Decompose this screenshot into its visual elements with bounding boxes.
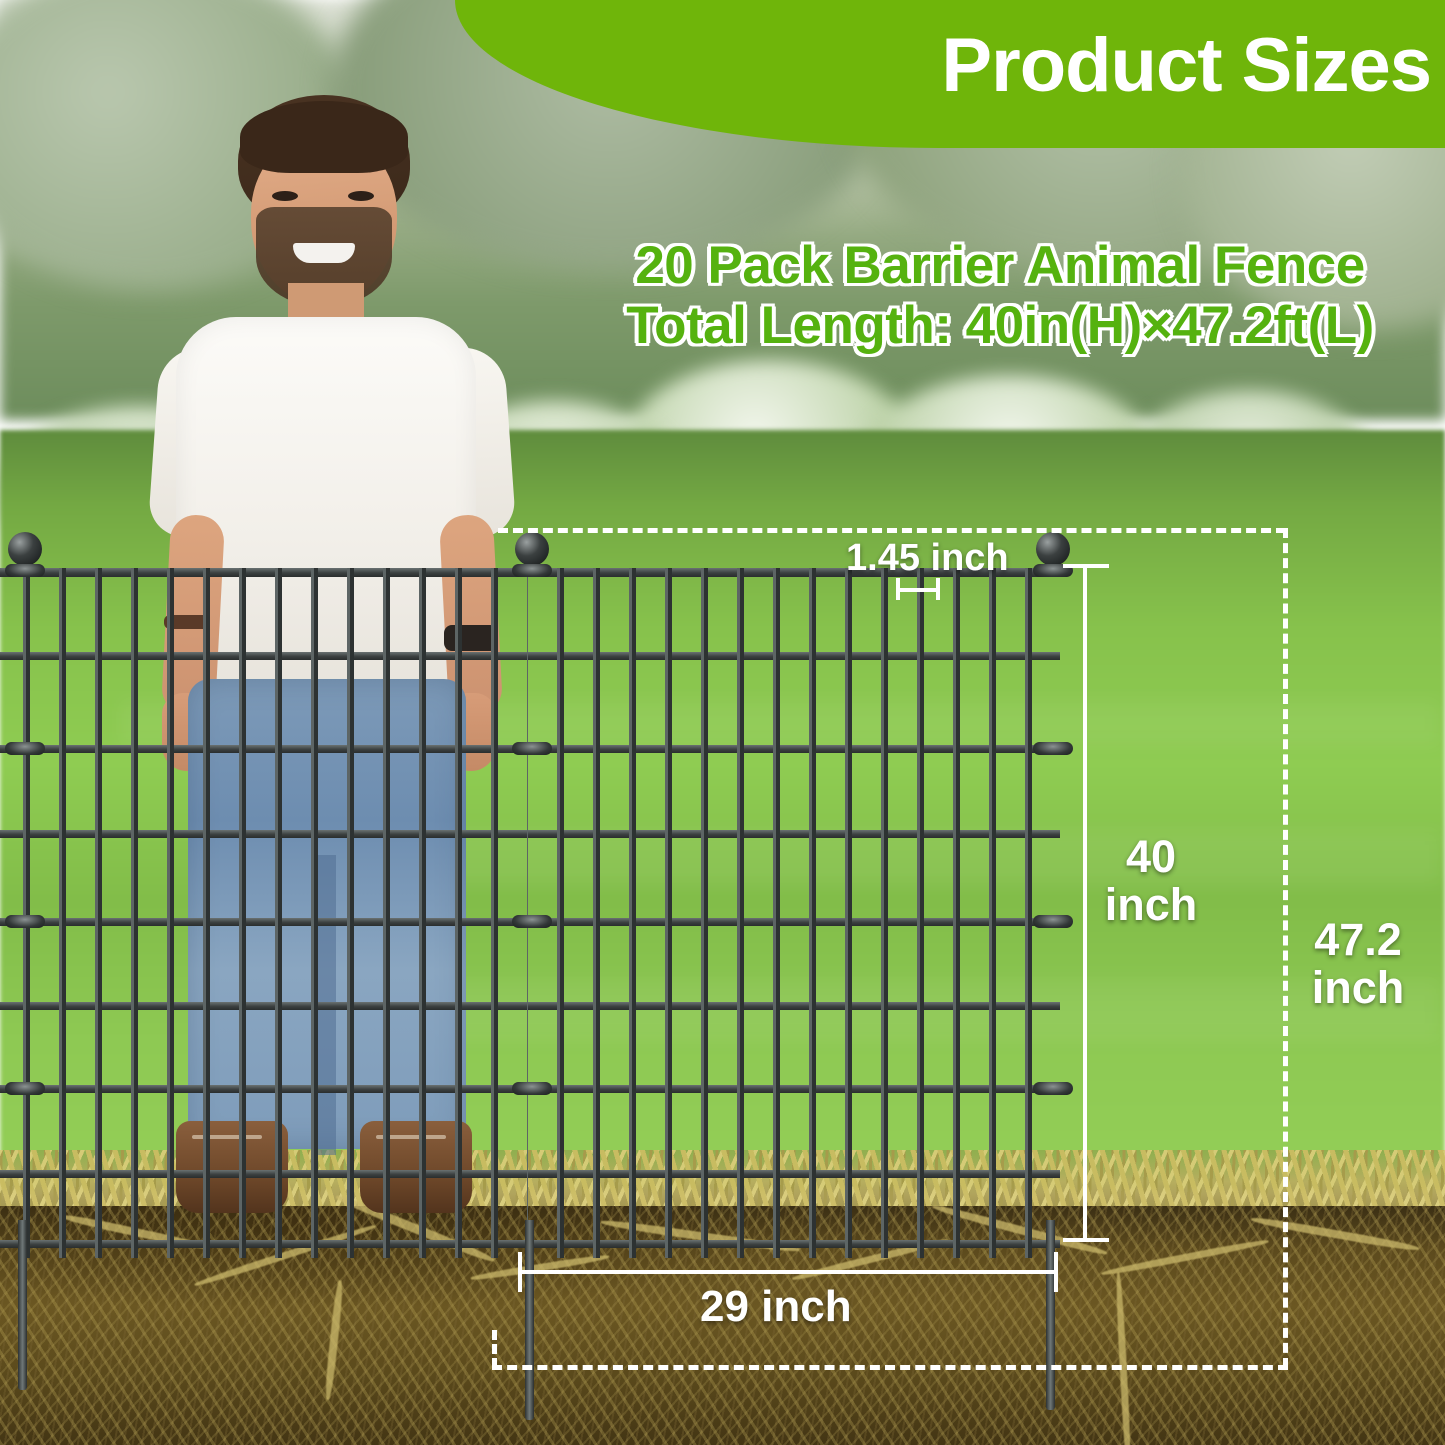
bracket-145-tick-left — [896, 578, 900, 600]
root — [324, 1280, 344, 1400]
dimension-label-total-height: 47.2 inch — [1288, 916, 1428, 1011]
measure-29-tick-right — [1054, 1252, 1058, 1292]
fence-bars-panel-a — [0, 568, 528, 1258]
ground-stake — [1046, 1220, 1055, 1410]
dimension-label-bar-spacing: 1.45 inch — [846, 538, 1009, 578]
subtitle-line-1: 20 Pack Barrier Animal Fence — [635, 236, 1364, 295]
ball-finial-right — [1036, 532, 1070, 566]
post-clip — [1033, 915, 1073, 928]
fence-post-center — [524, 564, 540, 1264]
post-clip — [5, 742, 45, 755]
fence-post-right — [1045, 564, 1061, 1264]
smile — [293, 243, 355, 263]
post-clip — [5, 915, 45, 928]
dimension-label-height-above-ground: 40 inch — [1096, 833, 1206, 928]
ground-stake — [525, 1220, 534, 1420]
subtitle-line-2: Total Length: 40in(H)×47.2ft(L) — [560, 296, 1440, 356]
eye-right — [348, 191, 374, 201]
fence-post-left — [17, 564, 33, 1264]
bracket-145-tick-right — [936, 578, 940, 600]
fence-panels — [0, 520, 1445, 1280]
post-clip — [1033, 1082, 1073, 1095]
post-clip — [5, 564, 45, 577]
measure-29-line — [518, 1270, 1058, 1274]
measure-40-tick-bottom — [1063, 1238, 1109, 1242]
post-clip — [512, 742, 552, 755]
dashline-left-stub — [492, 1330, 497, 1368]
ground-stake — [18, 1220, 27, 1390]
ball-finial-center — [515, 532, 549, 566]
post-clip — [5, 1082, 45, 1095]
root — [1115, 1272, 1132, 1445]
dashline-top — [498, 528, 1286, 533]
eye-left — [272, 191, 298, 201]
fence-bars-panel-b — [534, 568, 1058, 1258]
product-subtitle: 20 Pack Barrier Animal Fence Total Lengt… — [560, 236, 1440, 356]
post-clip — [512, 1082, 552, 1095]
post-clip — [512, 564, 552, 577]
hair-top — [240, 101, 408, 173]
product-infographic: Product Sizes 20 Pack Barrier Animal Fen… — [0, 0, 1445, 1445]
dimension-label-panel-width: 29 inch — [700, 1284, 852, 1331]
measure-40-line — [1083, 564, 1087, 1242]
post-clip — [512, 915, 552, 928]
page-title: Product Sizes — [941, 28, 1431, 104]
post-clip — [1033, 742, 1073, 755]
dashline-bottom — [492, 1365, 1288, 1370]
ball-finial-left — [8, 532, 42, 566]
bracket-145-span — [898, 588, 938, 592]
